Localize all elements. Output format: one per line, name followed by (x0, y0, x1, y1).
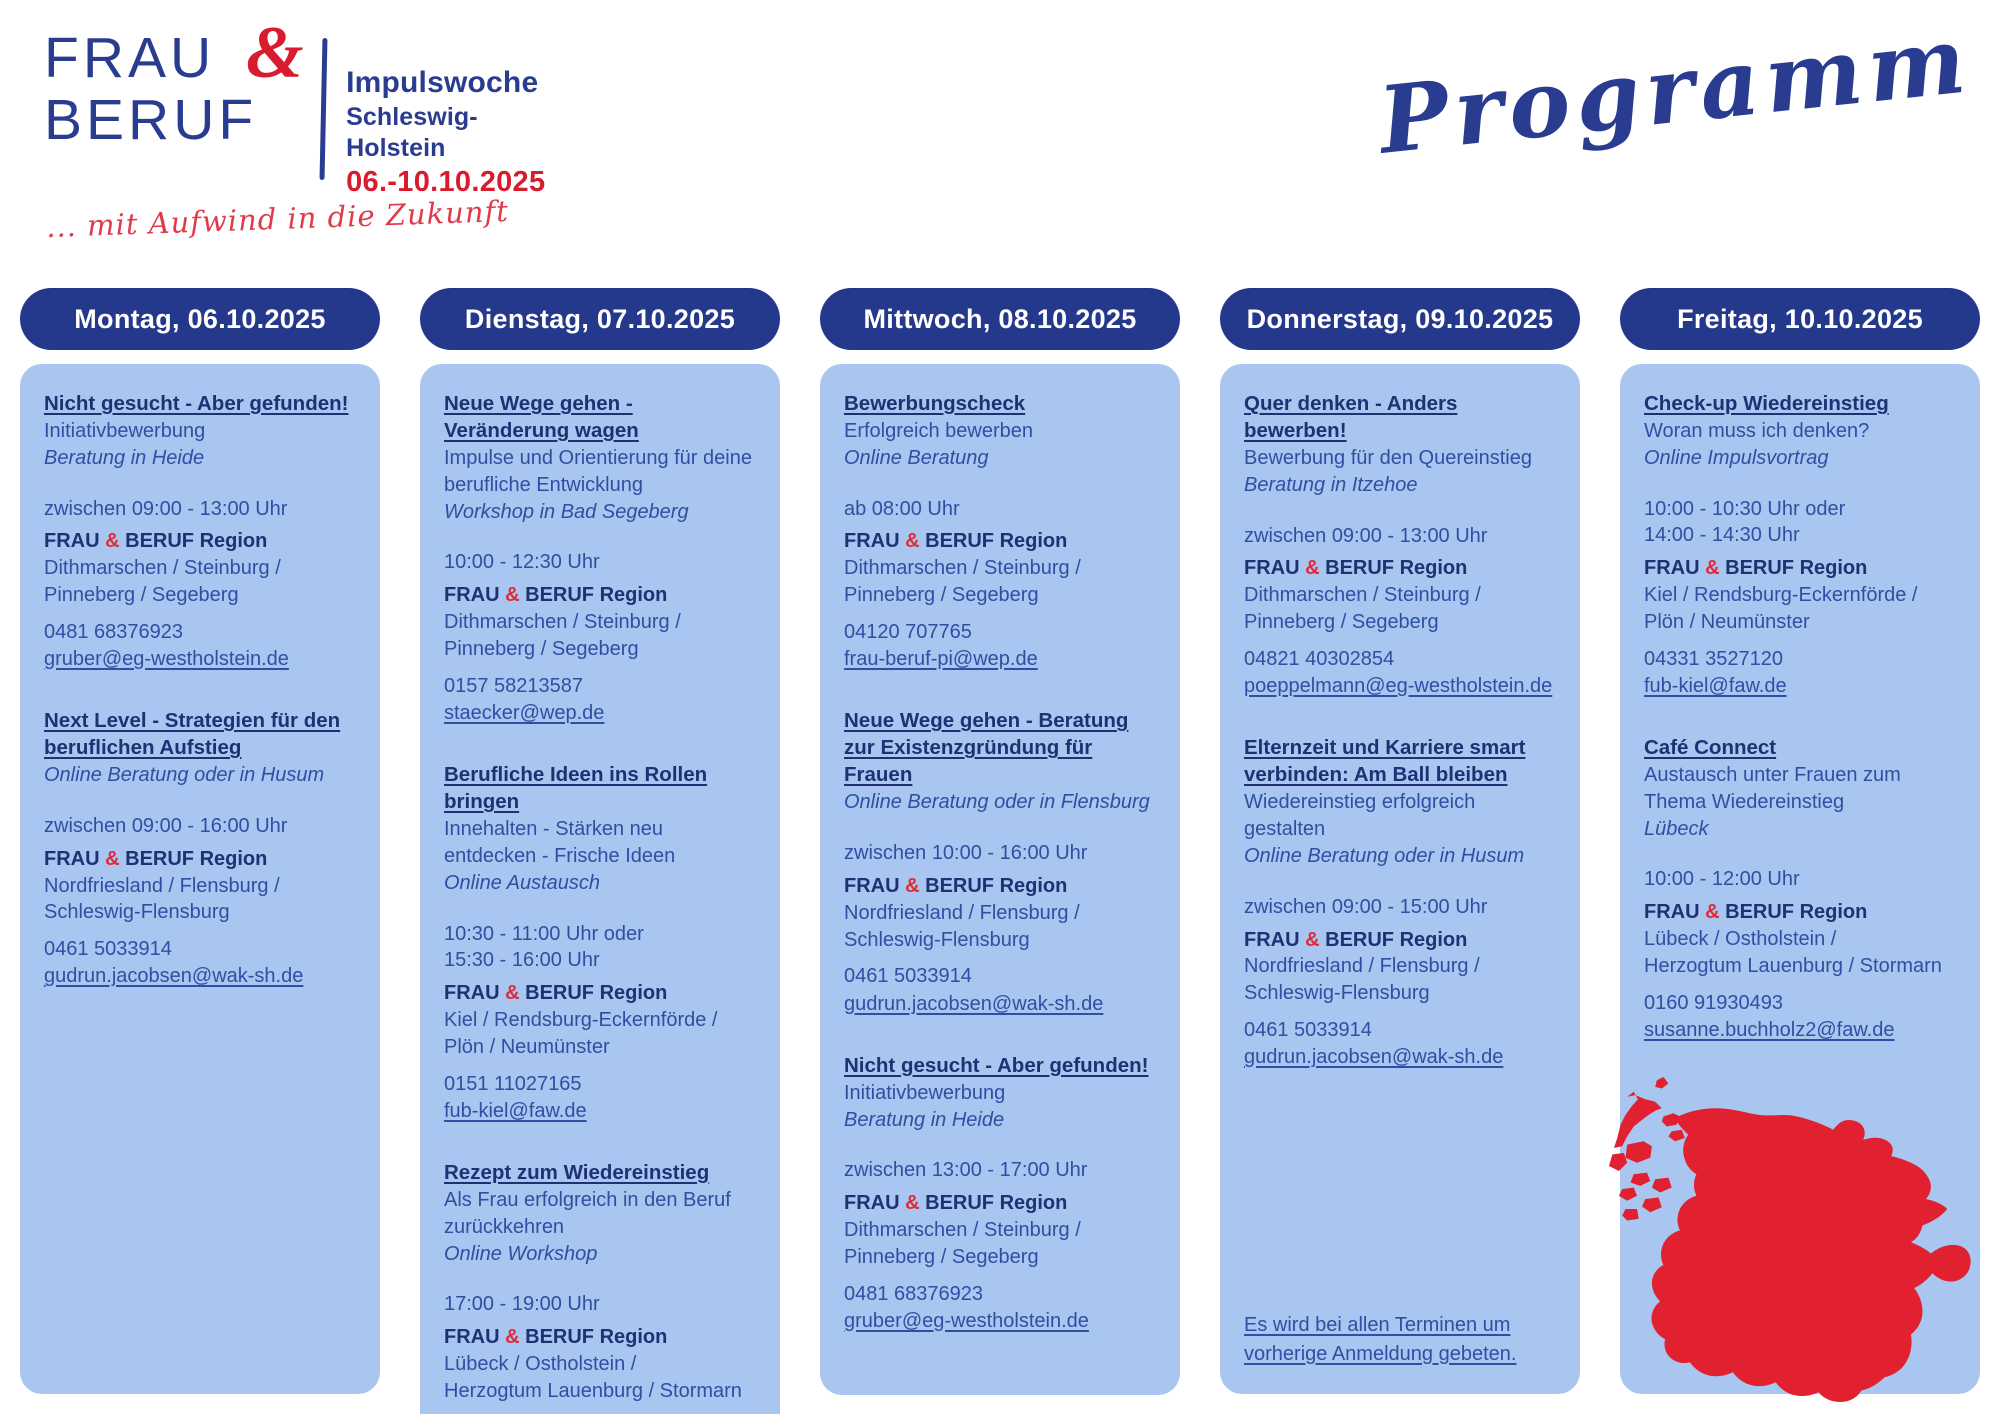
region-suffix: BERUF Region (1720, 557, 1868, 579)
event-format: Beratung in Heide (844, 1107, 1156, 1134)
contact-email-link[interactable]: susanne.buchholz2@faw.de (1644, 1017, 1956, 1044)
region-ampersand: & (505, 584, 519, 606)
event-area: Nordfriesland / Flensburg / Schleswig-Fl… (1244, 953, 1556, 1007)
event-subtitle: Initiativbewerbung (44, 418, 356, 445)
event-area: Dithmarschen / Steinburg / Pinneberg / S… (1244, 582, 1556, 636)
event-entry: Berufliche Ideen ins Rollen bringenInneh… (444, 761, 756, 1125)
event-entry: Check-up WiedereinstiegWoran muss ich de… (1644, 390, 1956, 700)
logo-ampersand: & (246, 14, 308, 94)
contact-phone[interactable]: 0461 5033914 (1244, 1017, 1556, 1044)
event-area: Kiel / Rendsburg-Eckernförde / Plön / Ne… (444, 1007, 756, 1061)
region-suffix: BERUF Region (520, 982, 668, 1004)
event-contact: 0481 68376923gruber@eg-westholstein.de (844, 1281, 1156, 1335)
contact-phone[interactable]: 0481 68376923 (44, 619, 356, 646)
day-header-4: Donnerstag, 09.10.2025 (1220, 288, 1580, 350)
day-card: Nicht gesucht - Aber gefunden!Initiativb… (20, 364, 380, 1394)
spacer (1244, 870, 1556, 894)
event-area: Lübeck / Ostholstein / Herzogtum Lauenbu… (444, 1351, 756, 1405)
event-title[interactable]: Quer denken - Anders bewerben! (1244, 390, 1556, 444)
event-contact: 04120 707765frau-beruf-pi@wep.de (844, 619, 1156, 673)
event-contact: 0461 5033914gudrun.jacobsen@wak-sh.de (844, 963, 1156, 1017)
event-region-label: FRAU & BERUF Region (1644, 899, 1956, 926)
event-subtitle: Initiativbewerbung (844, 1080, 1156, 1107)
event-format: Beratung in Itzehoe (1244, 472, 1556, 499)
event-area: Nordfriesland / Flensburg / Schleswig-Fl… (844, 900, 1156, 954)
region-suffix: BERUF Region (520, 1326, 668, 1348)
spacer (844, 1133, 1156, 1157)
event-format: Lübeck (1644, 816, 1956, 843)
event-region-label: FRAU & BERUF Region (444, 980, 756, 1007)
region-prefix: FRAU (444, 584, 505, 606)
region-suffix: BERUF Region (920, 530, 1068, 552)
day-column: Dienstag, 07.10.2025Neue Wege gehen - Ve… (400, 288, 800, 1414)
logo-wordmark: FRAU& BERUF (44, 28, 287, 151)
region-suffix: BERUF Region (120, 530, 268, 552)
event-title[interactable]: Check-up Wiedereinstieg (1644, 390, 1956, 417)
region-suffix: BERUF Region (1320, 929, 1468, 951)
event-format: Online Beratung oder in Husum (44, 762, 356, 789)
event-time: zwischen 09:00 - 13:00 Uhr (44, 496, 356, 523)
week-grid: Montag, 06.10.2025Nicht gesucht - Aber g… (0, 288, 2000, 1414)
event-time: 10:00 - 12:00 Uhr (1644, 866, 1956, 893)
region-ampersand: & (505, 1326, 519, 1348)
region-prefix: FRAU (444, 982, 505, 1004)
day-column: Freitag, 10.10.2025Check-up Wiedereinsti… (1600, 288, 2000, 1414)
event-entry: Café ConnectAustausch unter Frauen zum T… (1644, 734, 1956, 1044)
event-format: Online Beratung oder in Flensburg (844, 789, 1156, 816)
contact-email-link[interactable]: gudrun.jacobsen@wak-sh.de (844, 991, 1156, 1018)
event-subtitle: Innehalten - Stärken neu entdecken - Fri… (444, 816, 756, 870)
event-entry: Neue Wege gehen - Veränderung wagenImpul… (444, 390, 756, 727)
region-prefix: FRAU (1244, 929, 1305, 951)
day-card: Check-up WiedereinstiegWoran muss ich de… (1620, 364, 1980, 1394)
event-format: Online Workshop (444, 1241, 756, 1268)
event-contact: 0151 11027165fub-kiel@faw.de (444, 1071, 756, 1125)
region-ampersand: & (105, 848, 119, 870)
poster-header: FRAU& BERUF Impulswoche Schleswig-Holste… (0, 0, 2000, 282)
spacer (444, 1267, 756, 1291)
event-region: Schleswig-Holstein (346, 102, 564, 165)
event-region-label: FRAU & BERUF Region (1244, 927, 1556, 954)
event-region-label: FRAU & BERUF Region (844, 873, 1156, 900)
contact-email-link[interactable]: gudrun.jacobsen@wak-sh.de (44, 963, 356, 990)
event-contact: 04821 40302854poeppelmann@eg-westholstei… (1244, 646, 1556, 700)
event-time: 10:00 - 10:30 Uhr oder 14:00 - 14:30 Uhr (1644, 496, 1956, 550)
event-time: 17:00 - 19:00 Uhr (444, 1291, 756, 1318)
region-ampersand: & (105, 530, 119, 552)
event-area: Nordfriesland / Flensburg / Schleswig-Fl… (44, 873, 356, 927)
event-title[interactable]: Bewerbungscheck (844, 390, 1156, 417)
event-time: 10:00 - 12:30 Uhr (444, 549, 756, 576)
logo-word-frau: FRAU& (44, 28, 287, 90)
contact-phone[interactable]: 0157 58213587 (444, 673, 756, 700)
spacer (1244, 499, 1556, 523)
region-suffix: BERUF Region (120, 848, 268, 870)
event-name: Impulswoche (346, 64, 564, 102)
event-format: Online Impulsvortrag (1644, 445, 1956, 472)
region-prefix: FRAU (44, 530, 105, 552)
spacer (44, 789, 356, 813)
region-ampersand: & (505, 982, 519, 1004)
event-time: ab 08:00 Uhr (844, 496, 1156, 523)
registration-note: Es wird bei allen Terminen um vorherige … (1244, 1311, 1560, 1368)
spacer (1644, 472, 1956, 496)
region-suffix: BERUF Region (920, 875, 1068, 897)
event-title[interactable]: Next Level - Strategien für den beruflic… (44, 707, 356, 761)
event-entry: Nicht gesucht - Aber gefunden!Initiativb… (44, 390, 356, 673)
region-prefix: FRAU (844, 875, 905, 897)
contact-email-link[interactable]: gruber@eg-westholstein.de (44, 646, 356, 673)
event-region-label: FRAU & BERUF Region (44, 528, 356, 555)
event-time: zwischen 10:00 - 16:00 Uhr (844, 840, 1156, 867)
contact-email-link[interactable]: gudrun.jacobsen@wak-sh.de (1244, 1044, 1556, 1071)
region-ampersand: & (1305, 557, 1319, 579)
region-prefix: FRAU (1244, 557, 1305, 579)
region-ampersand: & (905, 1192, 919, 1214)
event-contact: 0160 91930493susanne.buchholz2@faw.de (1644, 990, 1956, 1044)
event-contact: 0157 58213587staecker@wep.de (444, 673, 756, 727)
event-title[interactable]: Berufliche Ideen ins Rollen bringen (444, 761, 756, 815)
day-header-2: Dienstag, 07.10.2025 (420, 288, 780, 350)
region-suffix: BERUF Region (920, 1192, 1068, 1214)
event-time: zwischen 09:00 - 13:00 Uhr (1244, 523, 1556, 550)
region-ampersand: & (1705, 901, 1719, 923)
spacer (44, 472, 356, 496)
event-subtitle: Woran muss ich denken? (1644, 418, 1956, 445)
region-suffix: BERUF Region (1720, 901, 1868, 923)
contact-phone[interactable]: 04821 40302854 (1244, 646, 1556, 673)
region-prefix: FRAU (1644, 557, 1705, 579)
contact-email-link[interactable]: gruber@eg-westholstein.de (844, 1308, 1156, 1335)
event-entry: Next Level - Strategien für den beruflic… (44, 707, 356, 990)
event-region-label: FRAU & BERUF Region (444, 582, 756, 609)
event-subtitle: Bewerbung für den Quereinstieg (1244, 445, 1556, 472)
programm-headline: Programm (1374, 5, 1976, 175)
event-contact: 0461 5033914gudrun.jacobsen@wak-sh.de (1244, 1017, 1556, 1071)
day-card: Quer denken - Anders bewerben!Bewerbung … (1220, 364, 1580, 1394)
event-region-label: FRAU & BERUF Region (1644, 555, 1956, 582)
contact-phone[interactable]: 0481 68376923 (844, 1281, 1156, 1308)
event-area: Kiel / Rendsburg-Eckernförde / Plön / Ne… (1644, 582, 1956, 636)
event-area: Dithmarschen / Steinburg / Pinneberg / S… (444, 609, 756, 663)
region-prefix: FRAU (844, 530, 905, 552)
event-area: Lübeck / Ostholstein / Herzogtum Lauenbu… (1644, 926, 1956, 980)
event-entry: Quer denken - Anders bewerben!Bewerbung … (1244, 390, 1556, 700)
logo-word-beruf: BERUF (44, 90, 287, 152)
event-format: Workshop in Bad Segeberg (444, 499, 756, 526)
contact-phone[interactable]: 04120 707765 (844, 619, 1156, 646)
day-card: Neue Wege gehen - Veränderung wagenImpul… (420, 364, 780, 1414)
region-prefix: FRAU (1644, 901, 1705, 923)
contact-email-link[interactable]: fub-kiel@faw.de (1644, 673, 1956, 700)
event-title[interactable]: Neue Wege gehen - Veränderung wagen (444, 390, 756, 444)
event-entry: BewerbungscheckErfolgreich bewerbenOnlin… (844, 390, 1156, 673)
region-suffix: BERUF Region (1320, 557, 1468, 579)
contact-phone[interactable]: 0160 91930493 (1644, 990, 1956, 1017)
event-area: Dithmarschen / Steinburg / Pinneberg / S… (844, 1217, 1156, 1271)
event-title[interactable]: Neue Wege gehen - Beratung zur Existenzg… (844, 707, 1156, 788)
logo-meta: Impulswoche Schleswig-Holstein 06.-10.10… (346, 28, 564, 202)
event-entry: Neue Wege gehen - Beratung zur Existenzg… (844, 707, 1156, 1018)
contact-email-link[interactable]: poeppelmann@eg-westholstein.de (1244, 673, 1556, 700)
event-area: Dithmarschen / Steinburg / Pinneberg / S… (844, 555, 1156, 609)
event-region-label: FRAU & BERUF Region (844, 528, 1156, 555)
region-ampersand: & (1705, 557, 1719, 579)
event-title[interactable]: Nicht gesucht - Aber gefunden! (44, 390, 356, 417)
contact-phone[interactable]: 04331 3527120 (1644, 646, 1956, 673)
contact-phone[interactable]: 0461 5033914 (44, 936, 356, 963)
event-region-label: FRAU & BERUF Region (444, 1324, 756, 1351)
day-card: BewerbungscheckErfolgreich bewerbenOnlin… (820, 364, 1180, 1395)
event-entry: Rezept zum WiedereinstiegAls Frau erfolg… (444, 1159, 756, 1414)
event-title[interactable]: Nicht gesucht - Aber gefunden! (844, 1052, 1156, 1079)
event-format: Online Austausch (444, 870, 756, 897)
day-column: Montag, 06.10.2025Nicht gesucht - Aber g… (0, 288, 400, 1414)
contact-email-link[interactable]: staecker@wep.de (444, 700, 756, 727)
day-column: Mittwoch, 08.10.2025BewerbungscheckErfol… (800, 288, 1200, 1414)
event-time: zwischen 09:00 - 15:00 Uhr (1244, 894, 1556, 921)
event-time: zwischen 13:00 - 17:00 Uhr (844, 1157, 1156, 1184)
contact-phone[interactable]: 0461 5033914 (844, 963, 1156, 990)
region-prefix: FRAU (444, 1326, 505, 1348)
region-ampersand: & (1305, 929, 1319, 951)
event-title[interactable]: Rezept zum Wiedereinstieg (444, 1159, 756, 1186)
event-title[interactable]: Café Connect (1644, 734, 1956, 761)
spacer (844, 816, 1156, 840)
event-format: Online Beratung oder in Husum (1244, 843, 1556, 870)
contact-email-link[interactable]: fub-kiel@faw.de (444, 1098, 756, 1125)
event-subtitle: Impulse und Orientierung für deine beruf… (444, 445, 756, 499)
region-prefix: FRAU (844, 1192, 905, 1214)
event-subtitle: Erfolgreich bewerben (844, 418, 1156, 445)
event-subtitle: Wiedereinstieg erfolgreich gestalten (1244, 789, 1556, 843)
spacer (1644, 842, 1956, 866)
region-suffix: BERUF Region (520, 584, 668, 606)
day-header-3: Mittwoch, 08.10.2025 (820, 288, 1180, 350)
contact-email-link[interactable]: frau-beruf-pi@wep.de (844, 646, 1156, 673)
event-format: Beratung in Heide (44, 445, 356, 472)
event-time: zwischen 09:00 - 16:00 Uhr (44, 813, 356, 840)
region-ampersand: & (905, 875, 919, 897)
event-time: 10:30 - 11:00 Uhr oder 15:30 - 16:00 Uhr (444, 921, 756, 975)
day-header-5: Freitag, 10.10.2025 (1620, 288, 1980, 350)
event-contact: 0461 5033914gudrun.jacobsen@wak-sh.de (44, 936, 356, 990)
day-column: Donnerstag, 09.10.2025Quer denken - Ande… (1200, 288, 1600, 1414)
event-subtitle: Austausch unter Frauen zum Thema Wiedere… (1644, 762, 1956, 816)
event-region-label: FRAU & BERUF Region (44, 846, 356, 873)
event-contact: 0481 68376923gruber@eg-westholstein.de (44, 619, 356, 673)
event-contact: 04331 3527120fub-kiel@faw.de (1644, 646, 1956, 700)
spacer (844, 472, 1156, 496)
logo-divider (320, 38, 328, 180)
spacer (444, 897, 756, 921)
schleswig-holstein-map (1564, 1072, 1984, 1402)
contact-phone[interactable]: 0151 11027165 (444, 1071, 756, 1098)
event-title[interactable]: Elternzeit und Karriere smart verbinden:… (1244, 734, 1556, 788)
event-entry: Elternzeit und Karriere smart verbinden:… (1244, 734, 1556, 1071)
spacer (444, 525, 756, 549)
program-poster: FRAU& BERUF Impulswoche Schleswig-Holste… (0, 0, 2000, 1414)
day-header-1: Montag, 06.10.2025 (20, 288, 380, 350)
event-subtitle: Als Frau erfolgreich in den Beruf zurück… (444, 1187, 756, 1241)
event-region-label: FRAU & BERUF Region (1244, 555, 1556, 582)
region-ampersand: & (905, 530, 919, 552)
event-region-label: FRAU & BERUF Region (844, 1190, 1156, 1217)
event-area: Dithmarschen / Steinburg / Pinneberg / S… (44, 555, 356, 609)
event-format: Online Beratung (844, 445, 1156, 472)
region-prefix: FRAU (44, 848, 105, 870)
event-entry: Nicht gesucht - Aber gefunden!Initiativb… (844, 1052, 1156, 1335)
